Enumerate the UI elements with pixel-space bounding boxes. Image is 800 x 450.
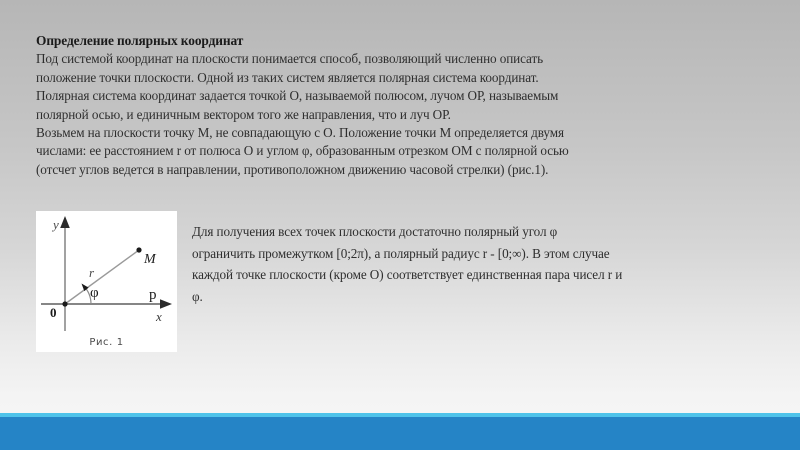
body-line-1: Под системой координат на плоскости пони… (36, 50, 766, 68)
figure-caption: Рис. 1 (36, 337, 177, 348)
polar-axis-label: p (149, 287, 157, 303)
point-m-marker (136, 247, 141, 252)
radius-vector-line (65, 250, 139, 304)
side-line-3: каждой точке плоскости (кроме О) соответ… (192, 264, 772, 286)
slide-canvas: Определение полярных координат Под систе… (0, 0, 800, 450)
x-axis-arrow-icon (160, 299, 172, 309)
origin-label: 0 (50, 305, 57, 320)
body-line-2: положение точки плоскости. Одной из таки… (36, 69, 766, 87)
side-line-4: φ. (192, 286, 772, 308)
body-line-3: Полярная система координат задается точк… (36, 87, 766, 105)
side-line-1: Для получения всех точек плоскости доста… (192, 221, 772, 243)
body-line-6: числами: ее расстоянием r от полюса О и … (36, 142, 766, 160)
radius-label: r (89, 265, 95, 280)
body-line-4: полярной осью, и единичным вектором того… (36, 106, 766, 124)
side-text-block: Для получения всех точек плоскости доста… (192, 221, 772, 307)
body-line-5: Возьмем на плоскости точку М, не совпада… (36, 124, 766, 142)
polar-diagram-svg: y x p 0 M r φ (36, 211, 177, 352)
footer-accent-dark-band (0, 417, 800, 450)
origin-marker (62, 301, 67, 306)
x-axis-label: x (155, 309, 162, 324)
main-text-block: Определение полярных координат Под систе… (36, 32, 766, 179)
polar-coordinates-figure: y x p 0 M r φ (36, 211, 177, 352)
angle-label: φ (90, 285, 99, 301)
y-axis-arrow-icon (60, 216, 70, 228)
side-line-2: ограничить промежутком [0;2π), а полярны… (192, 243, 772, 265)
page-title: Определение полярных координат (36, 32, 766, 50)
body-line-7: (отсчет углов ведется в направлении, про… (36, 161, 766, 179)
point-m-label: M (143, 252, 157, 267)
y-axis-label: y (51, 217, 59, 232)
